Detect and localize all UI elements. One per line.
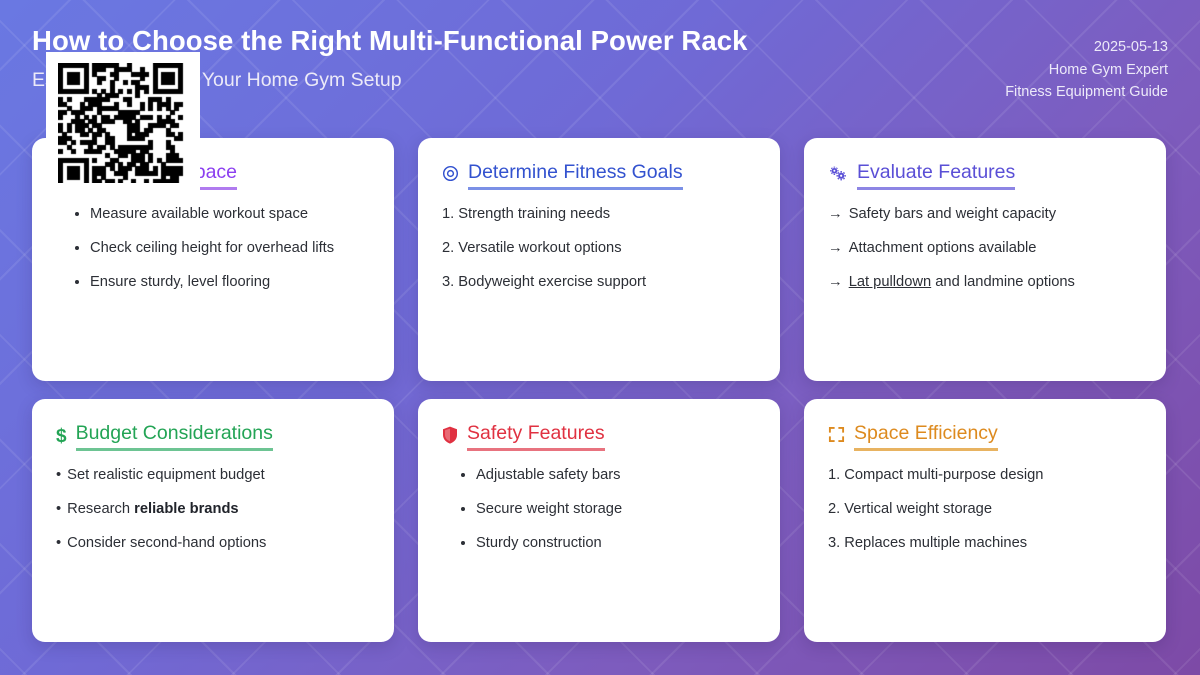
list-item-text: Compact multi-purpose design	[844, 467, 1043, 483]
list-item: Sturdy construction	[476, 531, 756, 555]
list-item-prefix: 3.	[828, 531, 840, 555]
list-item: 2.Vertical weight storage	[828, 497, 1142, 521]
list-item-text: and landmine options	[931, 274, 1075, 290]
list-item-text: Measure available workout space	[90, 206, 308, 222]
card-header: Evaluate Features	[828, 160, 1142, 190]
card-body: →Safety bars and weight capacity→Attachm…	[828, 202, 1142, 294]
list-item: →Lat pulldown and landmine options	[828, 270, 1142, 294]
list-item: Secure weight storage	[476, 497, 756, 521]
card-body: 1.Strength training needs2.Versatile wor…	[442, 202, 756, 294]
infographic-slide: How to Choose the Right Multi-Functional…	[0, 0, 1200, 675]
shield-icon	[442, 426, 458, 447]
card-body: •Set realistic equipment budget•Research…	[56, 463, 370, 555]
crop-frame-icon	[828, 426, 845, 446]
list-item: →Attachment options available	[828, 236, 1142, 260]
list-item-prefix: →	[828, 270, 843, 294]
card-body: 1.Compact multi-purpose design2.Vertical…	[828, 463, 1142, 555]
list-item-text: Secure weight storage	[476, 501, 622, 517]
card-list: •Set realistic equipment budget•Research…	[56, 463, 370, 555]
card-list: Adjustable safety barsSecure weight stor…	[442, 463, 756, 555]
list-item-text: Adjustable safety bars	[476, 467, 621, 483]
list-item-text: Safety bars and weight capacity	[849, 206, 1056, 222]
list-item-prefix: 3.	[442, 270, 454, 294]
list-item-text: Attachment options available	[849, 240, 1037, 256]
card-title: Safety Features	[467, 421, 605, 451]
card-header: Space Efficiency	[828, 421, 1142, 451]
list-item-text: Vertical weight storage	[844, 501, 992, 517]
list-item: •Consider second-hand options	[56, 531, 370, 555]
qr-code[interactable]	[46, 52, 200, 194]
card-body: Adjustable safety barsSecure weight stor…	[442, 463, 756, 555]
list-item-text: Research	[67, 501, 134, 517]
list-item-prefix: 2.	[442, 236, 454, 260]
list-item-text: Bodyweight exercise support	[458, 274, 646, 290]
card-title: Budget Considerations	[76, 421, 273, 451]
list-item-text: Ensure sturdy, level flooring	[90, 274, 270, 290]
list-item-prefix: →	[828, 236, 843, 260]
list-item-text: Set realistic equipment budget	[67, 467, 265, 483]
list-item-text: Sturdy construction	[476, 535, 602, 551]
card: Space Efficiency1.Compact multi-purpose …	[804, 399, 1166, 642]
card-header: Determine Fitness Goals	[442, 160, 756, 190]
list-item: →Safety bars and weight capacity	[828, 202, 1142, 226]
list-item: •Research reliable brands	[56, 497, 370, 521]
card-title: Evaluate Features	[857, 160, 1015, 190]
list-item-prefix: •	[56, 463, 61, 487]
list-item: 1.Compact multi-purpose design	[828, 463, 1142, 487]
meta-category: Fitness Equipment Guide	[1005, 81, 1168, 104]
emphasis-text: reliable brands	[134, 501, 238, 517]
gears-icon	[828, 165, 848, 185]
list-item-prefix: →	[828, 202, 843, 226]
list-item-prefix: 1.	[828, 463, 840, 487]
list-item-text: Versatile workout options	[458, 240, 621, 256]
card-title: Determine Fitness Goals	[468, 160, 683, 190]
card: $Budget Considerations•Set realistic equ…	[32, 399, 394, 642]
card-header: $Budget Considerations	[56, 421, 370, 451]
list-item: Check ceiling height for overhead lifts	[90, 236, 370, 260]
meta-date: 2025-05-13	[1005, 36, 1168, 59]
meta-author: Home Gym Expert	[1005, 59, 1168, 82]
target-icon	[442, 165, 459, 185]
list-item-text: Check ceiling height for overhead lifts	[90, 240, 334, 256]
card-title: Space Efficiency	[854, 421, 998, 451]
card-grid: Assess Your SpaceMeasure available worko…	[32, 138, 1168, 642]
qr-code-image	[58, 63, 188, 183]
card: Evaluate Features→Safety bars and weight…	[804, 138, 1166, 381]
list-item-prefix: •	[56, 531, 61, 555]
card-list: →Safety bars and weight capacity→Attachm…	[828, 202, 1142, 294]
inline-link[interactable]: Lat pulldown	[849, 274, 931, 290]
card-body: Measure available workout spaceCheck cei…	[56, 202, 370, 294]
list-item: 3.Replaces multiple machines	[828, 531, 1142, 555]
card-list: 1.Strength training needs2.Versatile wor…	[442, 202, 756, 294]
card-list: Measure available workout spaceCheck cei…	[56, 202, 370, 294]
list-item: 2.Versatile workout options	[442, 236, 756, 260]
list-item: 1.Strength training needs	[442, 202, 756, 226]
list-item: Ensure sturdy, level flooring	[90, 270, 370, 294]
card: Safety FeaturesAdjustable safety barsSec…	[418, 399, 780, 642]
card-header: Safety Features	[442, 421, 756, 451]
card: Determine Fitness Goals1.Strength traini…	[418, 138, 780, 381]
header-meta-block: 2025-05-13 Home Gym Expert Fitness Equip…	[1005, 36, 1168, 104]
dollar-icon: $	[56, 427, 67, 446]
card-list: 1.Compact multi-purpose design2.Vertical…	[828, 463, 1142, 555]
list-item-text: Replaces multiple machines	[844, 535, 1027, 551]
list-item-prefix: •	[56, 497, 61, 521]
list-item: •Set realistic equipment budget	[56, 463, 370, 487]
slide-header: How to Choose the Right Multi-Functional…	[32, 24, 1168, 120]
list-item: 3.Bodyweight exercise support	[442, 270, 756, 294]
list-item-text: Consider second-hand options	[67, 535, 266, 551]
list-item: Measure available workout space	[90, 202, 370, 226]
list-item-prefix: 2.	[828, 497, 840, 521]
list-item-prefix: 1.	[442, 202, 454, 226]
list-item-text: Strength training needs	[458, 206, 610, 222]
list-item: Adjustable safety bars	[476, 463, 756, 487]
